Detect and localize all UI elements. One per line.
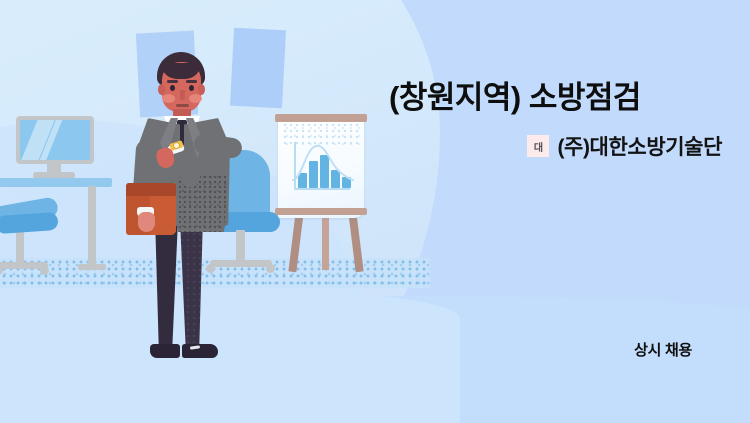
- eye-left: [170, 85, 175, 91]
- mouth: [176, 104, 189, 107]
- ear-right: [198, 84, 205, 95]
- hiring-status-label: 상시 채용: [634, 339, 692, 360]
- eyebrow-right: [186, 80, 197, 83]
- job-posting-poster: (창원지역) 소방점검 대 (주)대한소방기술단 상시 채용: [0, 0, 750, 423]
- ear-left: [158, 84, 165, 95]
- monitor-icon: [16, 116, 94, 164]
- eye-right: [189, 85, 194, 91]
- company-row: 대 (주)대한소방기술단: [310, 131, 722, 161]
- nose: [180, 90, 185, 100]
- leg-texture: [180, 220, 206, 348]
- desk-leg: [88, 186, 96, 268]
- leg-left: [152, 220, 178, 348]
- monitor-screen: [20, 120, 90, 160]
- chair-right-wheel: [266, 264, 275, 273]
- company-name: (주)대한소방기술단: [557, 131, 722, 161]
- cheek-right: [189, 94, 202, 103]
- eyebrow-left: [167, 80, 178, 83]
- cheek-left: [162, 94, 175, 103]
- folder-top-fold: [126, 183, 176, 196]
- hand-left: [138, 212, 155, 232]
- shoe-right: [182, 344, 218, 358]
- shoe-left: [150, 344, 180, 358]
- desk-foot: [78, 264, 106, 270]
- chair-left-stem: [16, 230, 24, 266]
- company-logo-badge: 대: [527, 135, 549, 157]
- page-title: (창원지역) 소방점검: [310, 72, 720, 117]
- chair-left-wheel: [40, 266, 49, 275]
- legs: [150, 220, 214, 350]
- flipchart-rail: [275, 208, 367, 215]
- businessman-illustration: [120, 52, 260, 372]
- chart-x-axis: [294, 188, 350, 190]
